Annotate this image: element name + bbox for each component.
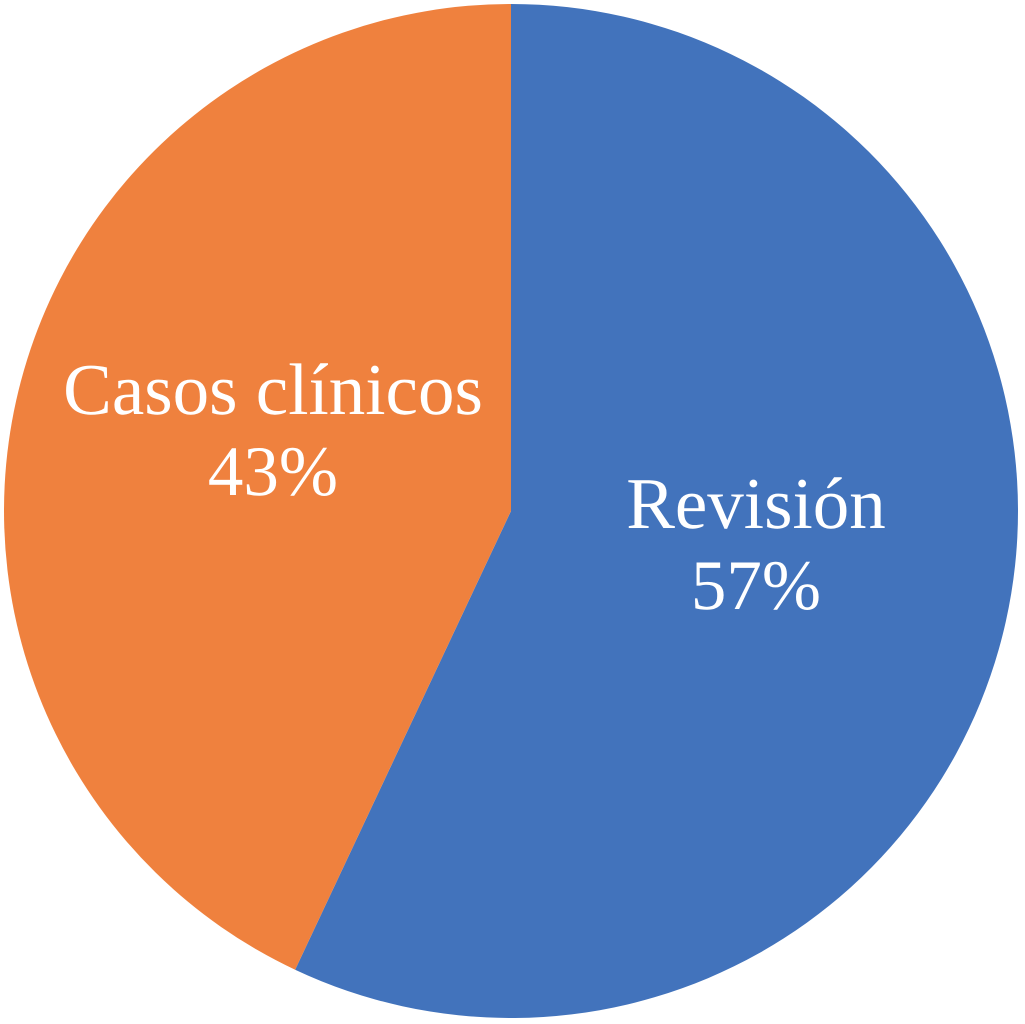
pie-chart-canvas — [0, 0, 1025, 1024]
pie-chart-figure: Casos clínicos 43% Revisión 57% — [0, 0, 1025, 1024]
